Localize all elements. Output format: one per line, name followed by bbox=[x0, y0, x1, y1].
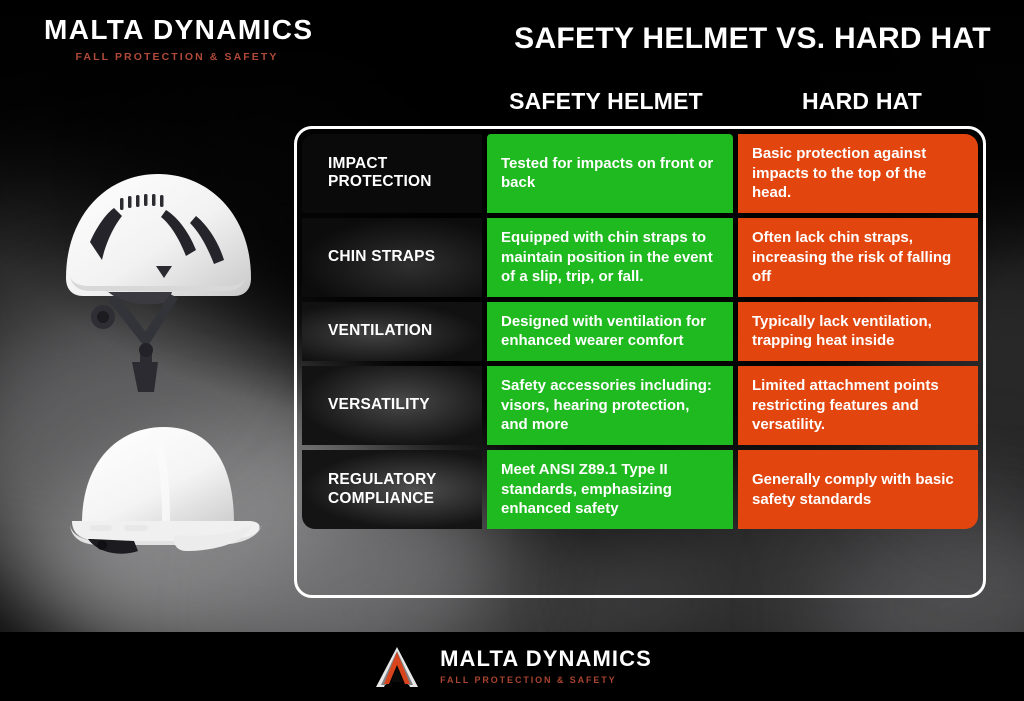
hard-hat-image bbox=[62, 405, 272, 585]
footer-brand-tagline: FALL PROTECTION & SAFETY bbox=[440, 675, 652, 685]
cell-helmet-versatility: Safety accessories including: visors, he… bbox=[487, 366, 733, 445]
cell-hardhat-impact-protection: Basic protection against impacts to the … bbox=[738, 134, 978, 213]
footer-brand-name: MALTA DYNAMICS bbox=[440, 648, 652, 670]
brand-name-top: MALTA DYNAMICS bbox=[44, 16, 310, 44]
cell-hardhat-ventilation: Typically lack ventilation, trapping hea… bbox=[738, 302, 978, 361]
malta-dynamics-chevron-a-logo-icon bbox=[372, 645, 422, 689]
footer-text-block: MALTA DYNAMICS FALL PROTECTION & SAFETY bbox=[440, 648, 652, 685]
table-row: VENTILATION Designed with ventilation fo… bbox=[302, 302, 978, 361]
column-header-hard-hat: HARD HAT bbox=[739, 88, 985, 115]
row-label-chin-straps: CHIN STRAPS bbox=[302, 218, 482, 297]
row-label-versatility: VERSATILITY bbox=[302, 366, 482, 445]
infographic-canvas: MALTA DYNAMICS FALL PROTECTION & SAFETY … bbox=[0, 0, 1024, 701]
table-row: VERSATILITY Safety accessories including… bbox=[302, 366, 978, 445]
comparison-table: IMPACT PROTECTION Tested for impacts on … bbox=[294, 126, 986, 598]
row-label-impact-protection: IMPACT PROTECTION bbox=[302, 134, 482, 213]
cell-hardhat-versatility: Limited attachment points restricting fe… bbox=[738, 366, 978, 445]
table-row: REGULATORY COMPLIANCE Meet ANSI Z89.1 Ty… bbox=[302, 450, 978, 529]
table-row: CHIN STRAPS Equipped with chin straps to… bbox=[302, 218, 978, 297]
safety-helmet-image bbox=[48, 150, 268, 400]
footer-bar: MALTA DYNAMICS FALL PROTECTION & SAFETY bbox=[0, 632, 1024, 701]
cell-helmet-regulatory-compliance: Meet ANSI Z89.1 Type II standards, empha… bbox=[487, 450, 733, 529]
table-row: IMPACT PROTECTION Tested for impacts on … bbox=[302, 134, 978, 213]
row-label-ventilation: VENTILATION bbox=[302, 302, 482, 361]
cell-helmet-impact-protection: Tested for impacts on front or back bbox=[487, 134, 733, 213]
cell-helmet-chin-straps: Equipped with chin straps to maintain po… bbox=[487, 218, 733, 297]
brand-tagline-top: FALL PROTECTION & SAFETY bbox=[44, 51, 310, 63]
cell-helmet-ventilation: Designed with ventilation for enhanced w… bbox=[487, 302, 733, 361]
page-title: SAFETY HELMET VS. HARD HAT bbox=[500, 22, 1005, 56]
column-header-safety-helmet: SAFETY HELMET bbox=[480, 88, 732, 115]
row-label-regulatory-compliance: REGULATORY COMPLIANCE bbox=[302, 450, 482, 529]
cell-hardhat-regulatory-compliance: Generally comply with basic safety stand… bbox=[738, 450, 978, 529]
cell-hardhat-chin-straps: Often lack chin straps, increasing the r… bbox=[738, 218, 978, 297]
brand-logo-top: MALTA DYNAMICS FALL PROTECTION & SAFETY bbox=[44, 16, 310, 63]
